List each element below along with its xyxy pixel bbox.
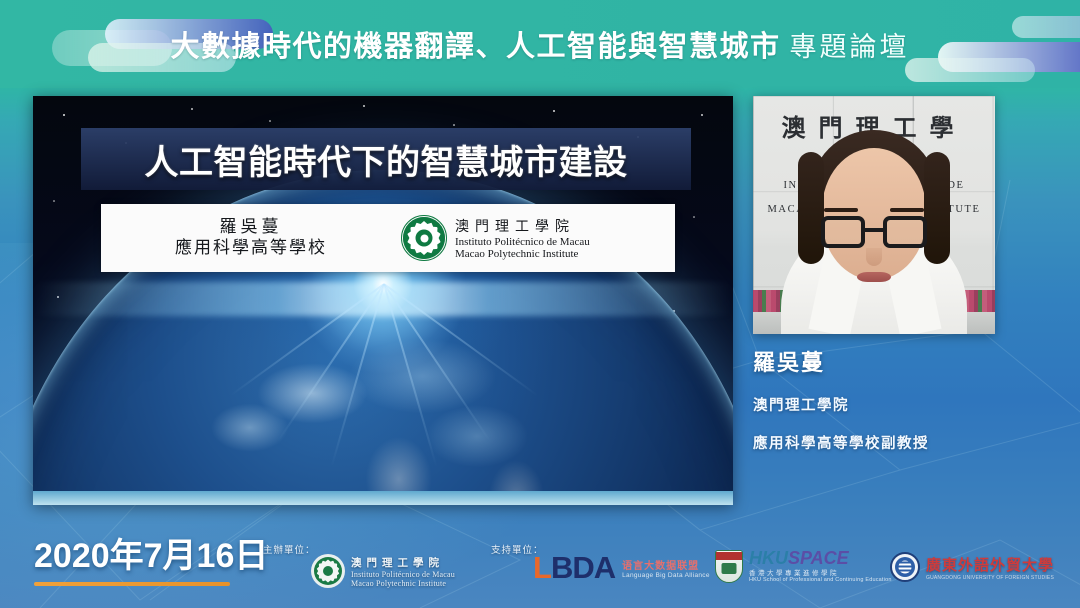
event-title: 大數據時代的機器翻譯、人工智能與智慧城市 專題論壇: [0, 0, 1080, 88]
broadcast-stage: 大數據時代的機器翻譯、人工智能與智慧城市 專題論壇: [0, 0, 1080, 608]
slide-title: 人工智能時代下的智慧城市建設: [145, 135, 628, 184]
footer-bar: 2020年7月16日 主辦單位： 支持單位： 澳門理工學院 Instituto …: [0, 512, 1080, 608]
event-date-block: 2020年7月16日: [34, 528, 268, 586]
mpi-name-pt: Instituto Politécnico de Macau: [455, 236, 590, 248]
lbda-name-en: Language Big Data Alliance: [622, 572, 710, 579]
mpi-logo-text: 澳門理工學院 Instituto Politécnico de Macau Ma…: [455, 216, 590, 260]
supporter-logo-hku-space: HKUSPACE 香港大學專業進修學院 HKU School of Profes…: [715, 549, 892, 583]
event-date: 2020年7月16日: [34, 528, 268, 577]
lbda-wordmark: LBDA: [533, 552, 615, 583]
hku-crest-icon: [715, 550, 743, 583]
event-title-suffix: 專題論壇: [790, 25, 910, 64]
mpi-footer-zh: 澳門理工學院: [351, 555, 455, 570]
mpi-footer-pt: Instituto Politécnico de Macau: [351, 570, 455, 579]
lbda-name-zh: 语言大数据联盟: [622, 557, 710, 572]
gdufs-name-zh: 廣東外語外貿大學: [926, 554, 1054, 575]
speaker-name: 羅吳蔓: [753, 345, 1053, 377]
lbda-wordmark-first: L: [533, 550, 551, 585]
eyeglasses-icon: [821, 216, 927, 250]
slide-speaker-name: 羅吳蔓: [101, 217, 401, 238]
gdufs-text: 廣東外語外貿大學 GUANGDONG UNIVERSITY OF FOREIGN…: [926, 554, 1054, 581]
gdufs-crest-icon: [890, 552, 920, 582]
hku-wordmark-rest: SPACE: [788, 548, 849, 568]
mpi-name-en: Macao Polytechnic Institute: [455, 248, 590, 260]
speaker-video-panel[interactable]: 澳門理工學院 INSTITUTO POLITÉCNICO DE MACAU MA…: [753, 96, 995, 334]
mpi-name-zh: 澳門理工學院: [455, 216, 590, 236]
gdufs-name-en: GUANGDONG UNIVERSITY OF FOREIGN STUDIES: [926, 575, 1054, 581]
lbda-text: 语言大数据联盟 Language Big Data Alliance: [622, 557, 710, 579]
slide-speaker-card: 羅吳蔓 應用科學高等學校 澳門理工學院 Instituto Politécnic…: [101, 204, 675, 272]
mpi-seal-icon: [311, 554, 345, 588]
supporter-logo-lbda: LBDA 语言大数据联盟 Language Big Data Alliance: [533, 552, 710, 583]
hku-name-zh: 香港大學專業進修學院: [749, 567, 892, 577]
date-underline-accent: [34, 582, 230, 586]
slide-title-banner: 人工智能時代下的智慧城市建設: [81, 128, 691, 190]
presentation-slide[interactable]: 人工智能時代下的智慧城市建設 羅吳蔓 應用科學高等學校 澳門理工學院 Insti…: [33, 96, 733, 505]
speaker-caption: 羅吳蔓 澳門理工學院 應用科學高等學校副教授: [753, 345, 1053, 453]
slide-bottom-band: [33, 491, 733, 505]
slide-institution-logo: 澳門理工學院 Instituto Politécnico de Macau Ma…: [401, 215, 590, 261]
mpi-footer-text: 澳門理工學院 Instituto Politécnico de Macau Ma…: [351, 555, 455, 588]
hku-wordmark-first: HKU: [749, 548, 788, 568]
event-title-main: 大數據時代的機器翻譯、人工智能與智慧城市: [170, 23, 780, 65]
speaker-affiliation: 澳門理工學院: [753, 394, 1053, 415]
slide-speaker-text: 羅吳蔓 應用科學高等學校: [101, 217, 401, 258]
mpi-footer-en: Macao Polytechnic Institute: [351, 579, 455, 588]
mpi-seal-icon: [401, 215, 447, 261]
hku-name-en: HKU School of Professional and Continuin…: [749, 577, 892, 583]
slide-speaker-school: 應用科學高等學校: [101, 238, 401, 259]
hku-text: HKUSPACE 香港大學專業進修學院 HKU School of Profes…: [749, 549, 892, 583]
hku-wordmark: HKUSPACE: [749, 549, 892, 567]
speaker-title: 應用科學高等學校副教授: [753, 432, 1053, 453]
organizer-label: 主辦單位：: [263, 542, 316, 556]
supporter-logo-gdufs: 廣東外語外貿大學 GUANGDONG UNIVERSITY OF FOREIGN…: [890, 552, 1054, 582]
lbda-wordmark-rest: BDA: [551, 550, 615, 585]
organizer-logo-mpi: 澳門理工學院 Instituto Politécnico de Macau Ma…: [311, 554, 455, 588]
event-header-bar: 大數據時代的機器翻譯、人工智能與智慧城市 專題論壇: [0, 0, 1080, 88]
